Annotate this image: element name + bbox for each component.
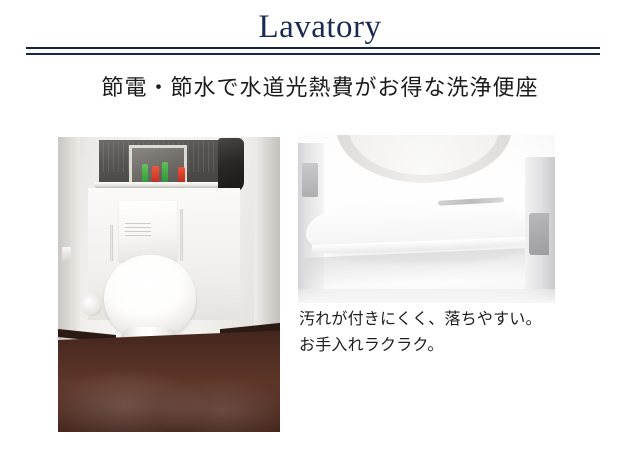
divider-line-bottom: [26, 53, 600, 55]
photo-bottom-strip: [298, 289, 555, 303]
seat-caption-line-1: 汚れが付きにくく、落ちやすい。: [299, 306, 559, 332]
page-subtitle: 節電・節水で水道光熱費がお得な洗浄便座: [0, 74, 640, 104]
seat-caption: 汚れが付きにくく、落ちやすい。 お手入れラクラク。: [299, 306, 559, 358]
title-divider: [26, 47, 600, 57]
supply-pipe-left: [110, 225, 113, 261]
room-scene: [58, 137, 280, 432]
toilet-tank: [119, 201, 177, 261]
hanging-towel: [218, 138, 244, 192]
lavatory-room-photo: [58, 137, 280, 432]
seat-closeup-photo: [298, 135, 555, 303]
wall-switch-plate: [62, 247, 71, 261]
shelf-bottle-green-a: [142, 164, 148, 183]
supply-pipe-right: [180, 209, 183, 261]
closeup-scene: [298, 135, 555, 303]
page-title: Lavatory: [0, 8, 640, 46]
shelf-bottle-green-b: [162, 162, 168, 183]
shelf-bottle-red-a: [152, 166, 159, 183]
shelf-bottle-red-b: [178, 167, 185, 183]
seat-left-bracket: [302, 163, 318, 197]
paper-holder: [80, 292, 102, 316]
tank-label: [125, 223, 151, 237]
seat-side-notch: [529, 213, 549, 255]
seat-caption-line-2: お手入れラクラク。: [299, 332, 559, 358]
